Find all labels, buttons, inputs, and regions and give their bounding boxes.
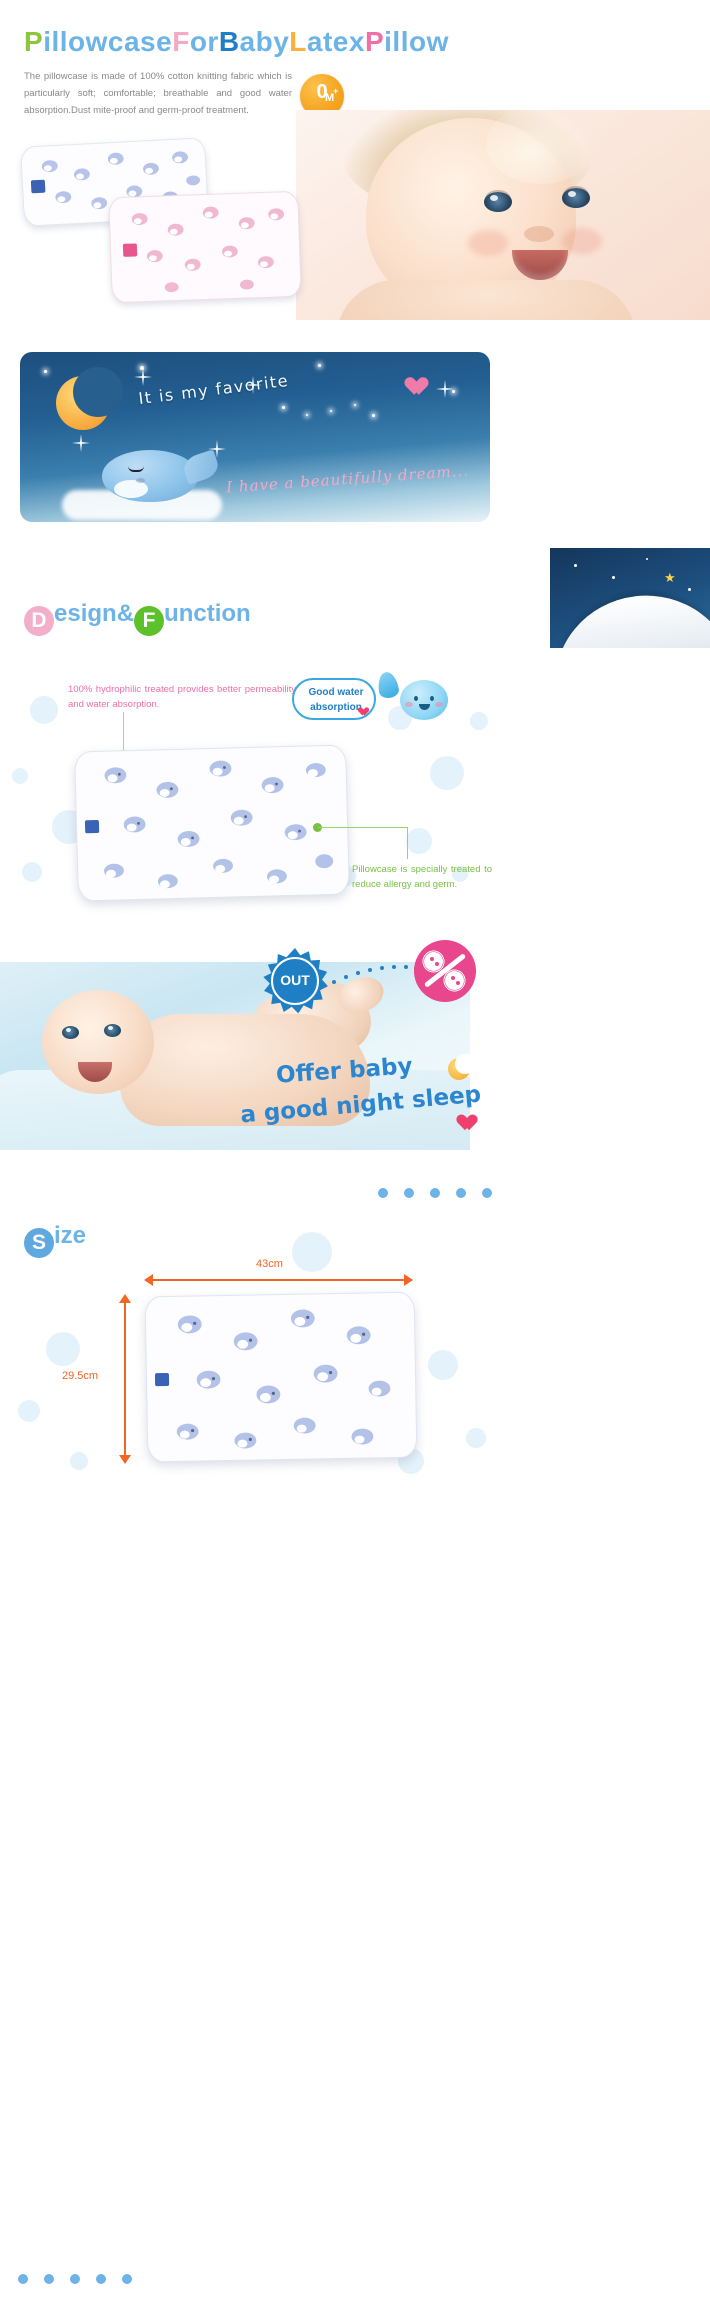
crescent-moon-icon <box>56 376 110 430</box>
bubble <box>466 1428 486 1448</box>
star-icon <box>354 404 356 406</box>
pillow-size-tag <box>155 1373 169 1386</box>
star-icon <box>330 410 332 412</box>
pillow-detail-tag <box>85 820 99 833</box>
germ-shape <box>445 971 464 990</box>
green-leader-line-h <box>318 827 408 828</box>
baby-eye-left-2 <box>62 1026 79 1039</box>
title-part-4: or <box>190 26 219 58</box>
title-part-5: B <box>219 26 240 58</box>
width-dimension-line <box>150 1279 412 1281</box>
germ-blocked-icon <box>414 940 476 1002</box>
pillow-pink <box>108 191 302 304</box>
star-icon <box>282 406 285 409</box>
bubble <box>430 756 464 790</box>
product-intro-text: The pillowcase is made of 100% cotton kn… <box>24 68 292 119</box>
sparkle-icon <box>80 434 82 452</box>
baby-eye-right-2 <box>104 1024 121 1037</box>
design-function-heading: Design&Function <box>24 600 251 636</box>
bubble <box>22 862 42 882</box>
favorite-caption: It is my favorite <box>137 371 290 408</box>
heading-ize: ize <box>54 1222 86 1249</box>
size-heading: Size <box>24 1222 86 1258</box>
title-part-7: L <box>289 26 307 58</box>
hero-baby-photo <box>296 110 710 320</box>
sleeping-whale-icon <box>92 450 212 506</box>
baby-mouth <box>512 250 568 280</box>
baby-cheek-right <box>562 228 602 254</box>
baby-shoulders <box>336 280 636 320</box>
arrow-left-icon <box>144 1274 153 1286</box>
star-icon <box>574 564 577 567</box>
pillow-detail-image <box>74 744 350 901</box>
water-bubble-line1: Good water <box>308 687 363 698</box>
pillow-pink-surface <box>108 191 302 304</box>
star-icon <box>452 390 455 393</box>
star-icon <box>44 370 47 373</box>
title-part-6: aby <box>240 26 290 58</box>
title-part-8: atex <box>307 26 365 58</box>
title-part-3: F <box>172 26 190 58</box>
top-dot-row <box>378 1188 498 1202</box>
yellow-star-icon: ★ <box>664 570 676 586</box>
heading-letter-s: S <box>24 1228 54 1258</box>
title-part-1: P <box>24 26 43 58</box>
page-title: Pillowcase For Baby Latex Pillow <box>24 26 449 58</box>
width-label: 43cm <box>256 1258 283 1270</box>
moon-icon <box>448 1058 470 1080</box>
page-fold-decoration: ★ <box>550 548 710 648</box>
heart-icon <box>452 1108 472 1128</box>
bubble <box>292 1232 332 1272</box>
bubble <box>406 828 432 854</box>
bubble <box>428 1350 458 1380</box>
bubble <box>46 1332 80 1366</box>
water-bubble-line2: absorption <box>310 702 362 713</box>
star-icon <box>688 588 691 591</box>
baby-eye-left <box>484 192 512 212</box>
bubble <box>30 696 58 724</box>
baby-eye-right <box>562 188 590 208</box>
pillow-detail-surface <box>74 744 350 901</box>
bubble <box>18 1400 40 1422</box>
heart-icon <box>400 370 422 392</box>
germ-shape <box>424 952 443 971</box>
whale-blush <box>136 478 145 483</box>
title-part-9: P <box>365 26 384 58</box>
dream-caption: I have a beautifully dream... <box>226 462 470 497</box>
bubble <box>12 768 28 784</box>
heading-letter-d: D <box>24 606 54 636</box>
hydrophilic-note: 100% hydrophilic treated provides better… <box>68 682 296 712</box>
baby-cheek-left <box>468 230 508 256</box>
pillow-size-surface <box>145 1292 418 1463</box>
out-label: OUT <box>262 972 328 988</box>
antiallergy-note: Pillowcase is specially treated to reduc… <box>352 862 492 892</box>
arrow-right-icon <box>404 1274 413 1286</box>
bubble <box>470 712 488 730</box>
sparkle-icon <box>216 440 218 458</box>
good-water-absorption-bubble: Good water absorption <box>292 678 376 720</box>
title-part-2: illowcase <box>43 26 172 58</box>
heading-unction: unction <box>164 600 251 627</box>
whale-print-detail <box>75 745 349 901</box>
product-detail-page: Pillowcase For Baby Latex Pillow The pil… <box>0 0 710 2300</box>
heading-esign: esign <box>54 600 117 627</box>
night-banner: It is my favorite I have a beautifully d… <box>20 352 490 522</box>
star-icon <box>612 576 615 579</box>
arrow-up-icon <box>119 1294 131 1303</box>
pillow-blue-tag <box>31 180 46 194</box>
whale-print-size <box>146 1293 417 1462</box>
whale-tail <box>181 449 221 484</box>
height-dimension-line <box>124 1300 126 1462</box>
sparkle-icon <box>444 380 446 398</box>
heading-letter-f: F <box>134 606 164 636</box>
pillow-pink-tag <box>123 243 137 256</box>
bottom-dot-row <box>18 2274 138 2288</box>
baby-nose <box>524 226 554 242</box>
pillow-size-image <box>145 1292 418 1463</box>
arrow-down-icon <box>119 1455 131 1464</box>
star-icon <box>372 414 375 417</box>
height-label: 29.5cm <box>62 1370 98 1382</box>
star-icon <box>318 364 321 367</box>
dotted-arrow <box>332 962 418 988</box>
bubble <box>70 1452 88 1470</box>
star-icon <box>646 558 648 560</box>
water-character-icon <box>400 680 448 720</box>
green-leader-line-v <box>407 827 408 859</box>
heading-ampersand: & <box>117 600 134 627</box>
title-part-10: illow <box>384 26 449 58</box>
heart-icon <box>356 704 366 714</box>
age-badge-plus: + <box>333 86 338 96</box>
out-badge: OUT <box>262 948 328 1014</box>
star-icon <box>306 414 308 416</box>
sparkle-icon <box>142 368 144 386</box>
whale-print-pink <box>109 192 301 303</box>
whale-fin <box>114 480 148 498</box>
